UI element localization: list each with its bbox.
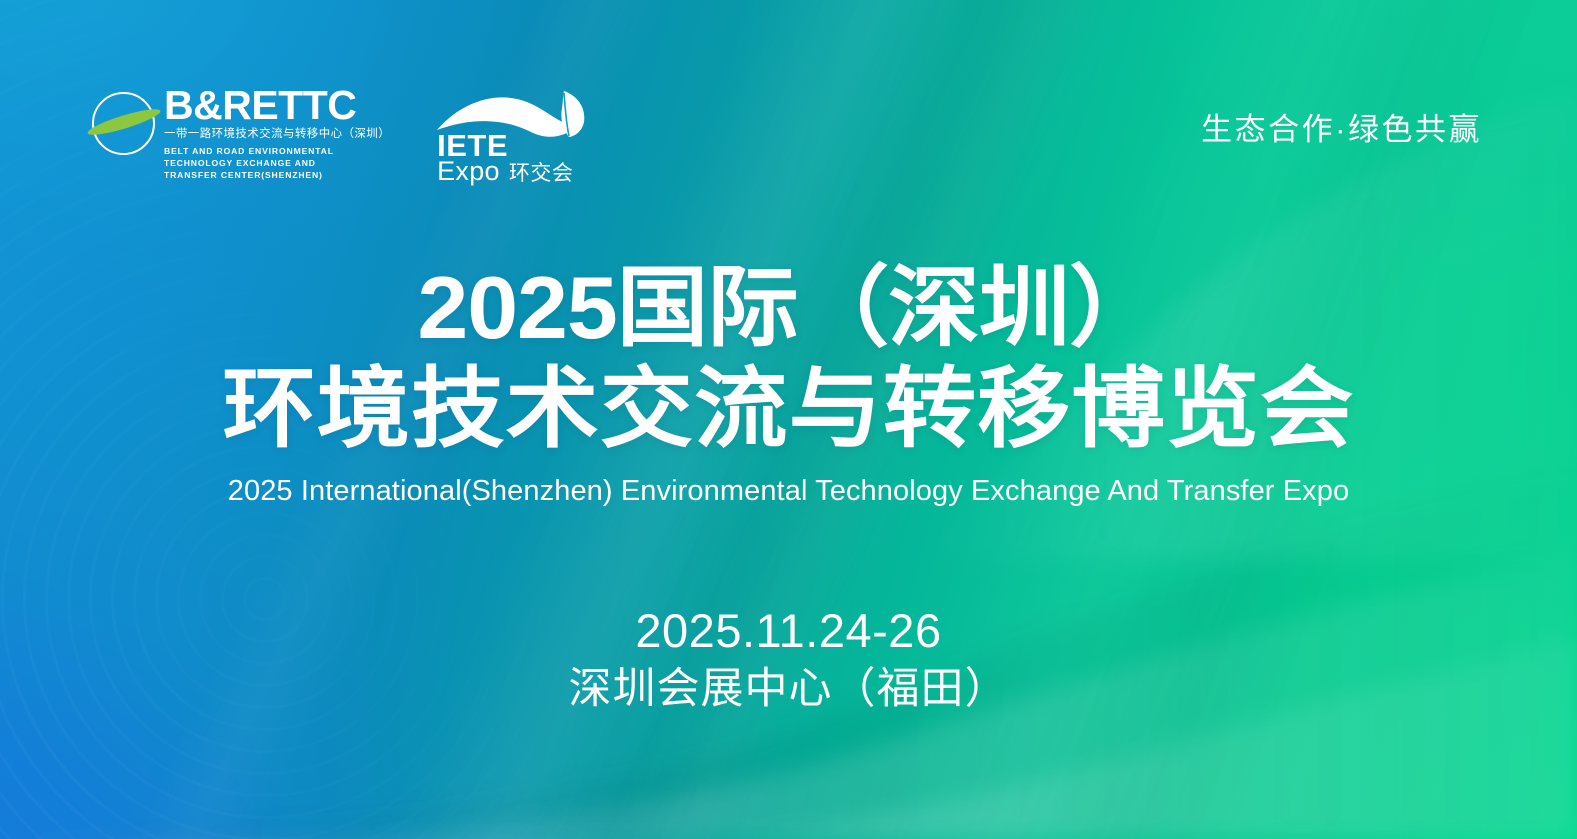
expo-banner: B&RETTC 一带一路环境技术交流与转移中心（深圳） BELT AND ROA… xyxy=(0,0,1577,839)
globe-icon xyxy=(92,92,155,155)
iete-chinese-name: 环交会 xyxy=(509,163,574,184)
brettc-english-name: BELT AND ROAD ENVIRONMENTAL TECHNOLOGY E… xyxy=(164,145,368,182)
title-line-2: 环境技术交流与转移博览会 xyxy=(0,360,1577,459)
headline-block: 2025国际（深圳） 环境技术交流与转移博览会 2025 Internation… xyxy=(0,262,1577,508)
subtitle-english: 2025 International(Shenzhen) Environment… xyxy=(0,475,1577,508)
brettc-text-block: B&RETTC 一带一路环境技术交流与转移中心（深圳） BELT AND ROA… xyxy=(164,86,390,181)
tagline: 生态合作·绿色共赢 xyxy=(1201,104,1482,149)
iete-expo-logo: IETE Expo 环交会 xyxy=(435,86,595,190)
event-date: 2025.11.24-26 xyxy=(0,603,1577,658)
title-line-1: 2025国际（深圳） xyxy=(0,262,1577,354)
iete-second-line: Expo 环交会 xyxy=(437,158,573,185)
event-venue: 深圳会展中心（福田） xyxy=(0,662,1577,718)
brettc-logo: B&RETTC 一带一路环境技术交流与转移中心（深圳） BELT AND ROA… xyxy=(92,86,390,181)
logo-row: B&RETTC 一带一路环境技术交流与转移中心（深圳） BELT AND ROA… xyxy=(92,86,595,190)
brettc-wordmark: B&RETTC xyxy=(164,86,390,125)
iete-expo-word: Expo xyxy=(437,158,500,185)
brettc-chinese-name: 一带一路环境技术交流与转移中心（深圳） xyxy=(164,127,390,143)
banner-content: B&RETTC 一带一路环境技术交流与转移中心（深圳） BELT AND ROA… xyxy=(0,0,1577,839)
event-details: 2025.11.24-26 深圳会展中心（福田） xyxy=(0,603,1577,718)
